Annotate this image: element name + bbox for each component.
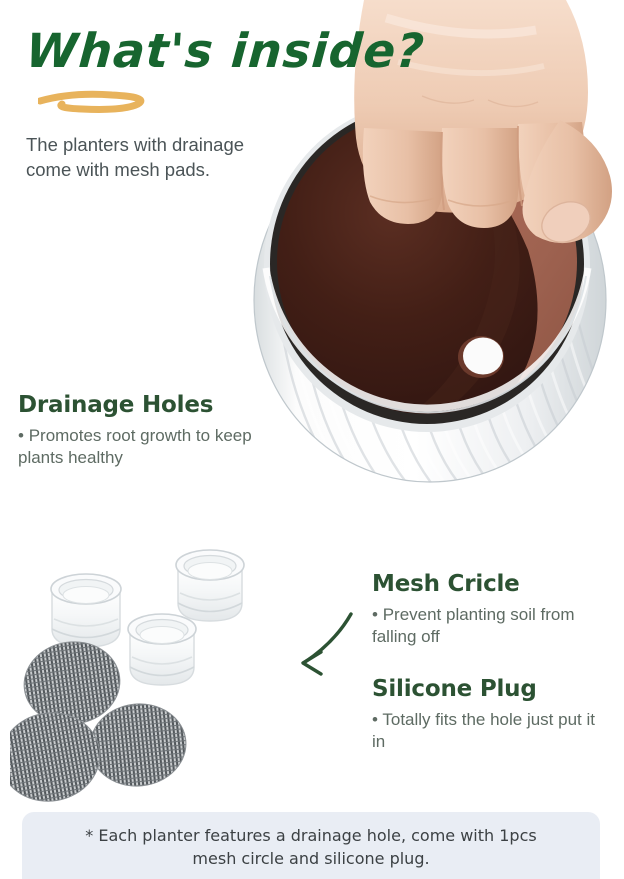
drainage-holes-heading: Drainage Holes [18,392,268,418]
product-infographic: What's inside? The planters with drainag… [0,0,624,879]
footer-note-line-2: mesh circle and silicone plug. [48,848,574,871]
section-silicone-plug: Silicone Plug • Totally fits the hole ju… [372,676,612,753]
bullet-dot-icon: • [372,605,378,624]
subtitle-line-2: come with mesh pads. [26,158,291,183]
drainage-holes-bullet: • Promotes root growth to keep plants he… [18,425,268,469]
silicone-plug-bullet-text: Totally fits the hole just put it in [372,710,595,751]
drainage-hole [458,336,504,378]
subtitle-line-1: The planters with drainage [26,133,291,158]
pointer-arrow-icon [255,600,365,690]
mesh-circle-heading: Mesh Cricle [372,571,612,597]
bullet-dot-icon: • [18,426,24,445]
silicone-plug-bullet: • Totally fits the hole just put it in [372,709,612,753]
mesh-circle-bullet-text: Prevent planting soil from falling off [372,605,575,646]
section-mesh-circle: Mesh Cricle • Prevent planting soil from… [372,571,612,648]
page-title: What's inside? [24,28,357,75]
silicone-plug [128,614,196,685]
silicone-plug [51,574,121,647]
bullet-dot-icon: • [372,710,378,729]
silicone-plug-heading: Silicone Plug [372,676,612,702]
title-block: What's inside? [26,28,356,75]
footer-note: * Each planter features a drainage hole,… [22,812,600,879]
footer-note-line-1: * Each planter features a drainage hole,… [48,825,574,848]
silicone-plug [176,550,244,621]
mesh-circle-bullet: • Prevent planting soil from falling off [372,604,612,648]
title-underline-swoosh [38,90,168,114]
drainage-holes-bullet-text: Promotes root growth to keep plants heal… [18,426,252,467]
subtitle: The planters with drainage come with mes… [26,133,291,183]
section-drainage-holes: Drainage Holes • Promotes root growth to… [18,392,268,469]
